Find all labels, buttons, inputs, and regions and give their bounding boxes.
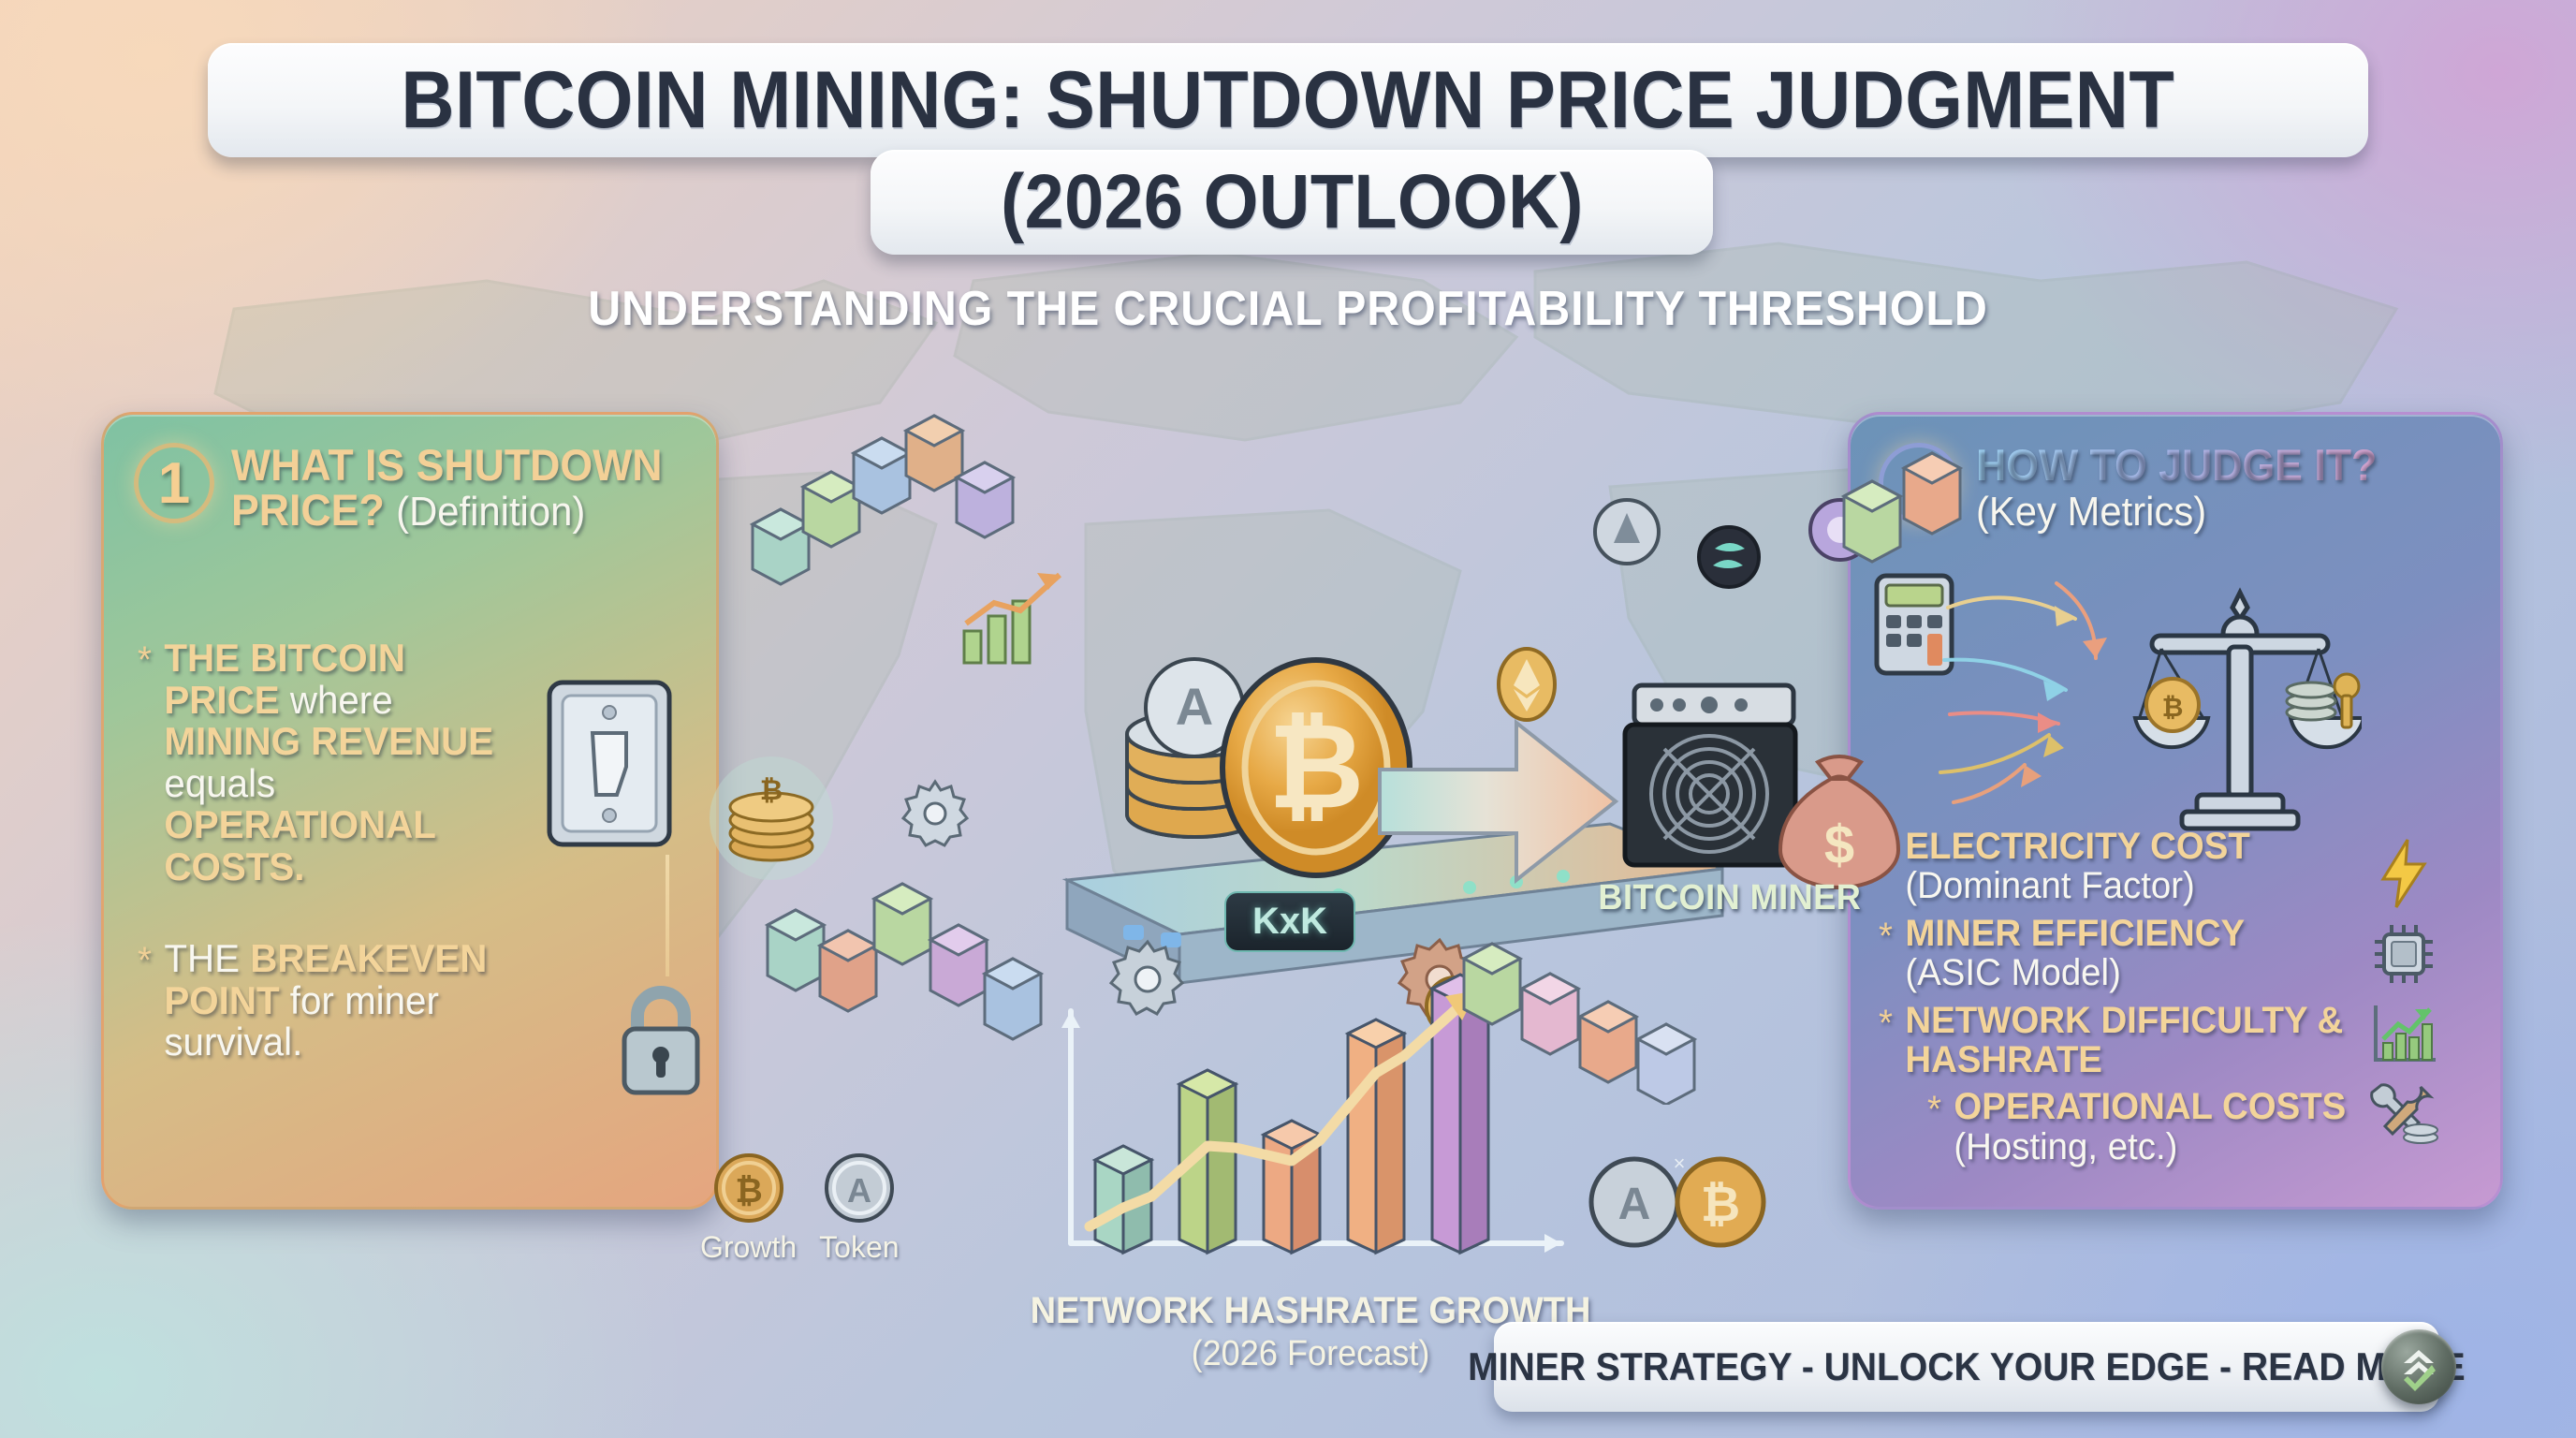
bullet-segment: OPERATIONAL COSTS. — [164, 802, 435, 888]
bullet-star-icon: * — [1927, 1087, 1941, 1167]
metric-note: (Dominant Factor) — [1905, 865, 2194, 906]
altcoin-badge-icon — [1696, 524, 1762, 590]
panel-definition: 1 WHAT IS SHUTDOWN PRICE? (Definition) *… — [101, 412, 719, 1210]
coin-legend: ₿ Growth A Token — [700, 1152, 900, 1265]
coin-symbol: ₿ — [735, 1171, 762, 1210]
metric-title: MINER EFFICIENCY — [1905, 913, 2245, 954]
dollar-symbol: $ — [1824, 814, 1854, 875]
lightning-bolt-icon — [2378, 838, 2430, 909]
hashrate-caption-sub: (2026 Forecast) — [1192, 1334, 1430, 1373]
bullet-star-icon: * — [138, 638, 152, 888]
token-symbol: A — [1176, 677, 1213, 736]
metric-note: (Hosting, etc.) — [1954, 1126, 2177, 1167]
panel-right-heading-main: HOW TO JUDGE IT? — [1976, 440, 2377, 490]
light-switch-icon[interactable] — [544, 677, 675, 850]
step-number-badge-1: 1 — [134, 443, 214, 523]
svg-text:A: A — [1618, 1180, 1651, 1229]
ethereum-coin-icon — [1494, 644, 1559, 725]
svg-text:×: × — [1674, 1152, 1686, 1175]
page-subtitle: UNDERSTANDING THE CRUCIAL PROFITABILITY … — [90, 281, 2485, 337]
page-title-line1: BITCOIN MINING: SHUTDOWN PRICE JUDGMENT — [402, 54, 2175, 147]
wrench-tools-icon — [2366, 1081, 2441, 1149]
panel-left-header: 1 WHAT IS SHUTDOWN PRICE? (Definition) — [134, 443, 716, 534]
connector-line — [666, 855, 669, 976]
bar — [1348, 1020, 1404, 1253]
title-plaque-line2: (2026 OUTLOOK) — [871, 150, 1713, 255]
bullet-star-icon: * — [1879, 914, 1893, 993]
cpu-chip-icon-wrap — [2359, 914, 2449, 994]
growth-chart-icon-wrap — [2359, 994, 2449, 1075]
cta-banner[interactable]: MINER STRATEGY - UNLOCK YOUR EDGE - READ… — [1494, 1322, 2439, 1412]
panel-left-bullet-list: * THE BITCOIN PRICE where MINING REVENUE… — [138, 638, 540, 1088]
balance-scale-icon: ₿ — [2118, 581, 2362, 834]
bullet-segment: THE — [164, 936, 250, 980]
flow-arrows-icon — [1935, 574, 2131, 808]
metric-title: ELECTRICITY COST — [1905, 826, 2249, 867]
chevron-check-badge-icon[interactable] — [2381, 1329, 2456, 1404]
block-cubes-icon — [1455, 899, 1735, 1105]
padlock-icon[interactable] — [609, 976, 712, 1103]
panel-left-heading: WHAT IS SHUTDOWN PRICE? (Definition) — [231, 443, 692, 534]
token-coin-icon: A — [823, 1152, 896, 1225]
gear-icon — [899, 777, 972, 850]
bullet-segment: where — [290, 678, 393, 722]
bullet-segment: MINING REVENUE — [164, 719, 493, 763]
legend-item-growth: ₿ Growth — [700, 1152, 797, 1265]
bitcoin-coin-icon: ₿ — [712, 1152, 785, 1225]
lightning-bolt-icon-wrap — [2359, 833, 2449, 914]
list-item: * OPERATIONAL COSTS(Hosting, etc.) — [1927, 1087, 2365, 1167]
panel-left-heading-paren: (Definition) — [396, 489, 585, 535]
panel-right-bullet-list: * ELECTRICITY COST(Dominant Factor) * MI… — [1879, 827, 2384, 1174]
list-item: * ELECTRICITY COST(Dominant Factor) — [1879, 827, 2364, 906]
legend-item-token: A Token — [819, 1152, 899, 1265]
cpu-chip-icon — [2369, 919, 2438, 989]
coin-pair-icon: A ₿ × — [1582, 1150, 1778, 1253]
wrench-tools-icon-wrap — [2359, 1075, 2449, 1155]
bitcoin-symbol: ₿ — [1268, 700, 1365, 832]
panel-right-heading: HOW TO JUDGE IT? (Key Metrics) — [1976, 443, 2377, 534]
list-item: * THE BREAKEVEN POINT for miner survival… — [138, 938, 524, 1064]
metric-title: OPERATIONAL COSTS — [1954, 1086, 2346, 1127]
coin-symbol: A — [847, 1171, 871, 1210]
right-arrow-icon — [1376, 708, 1619, 895]
legend-label-token: Token — [819, 1230, 899, 1265]
block-cubes-icon — [758, 843, 1058, 1058]
altcoin-badge-icon — [1591, 496, 1662, 567]
growth-chart-icon — [2368, 1002, 2439, 1067]
list-item: * MINER EFFICIENCY(ASIC Model) — [1879, 914, 2364, 993]
svg-text:₿: ₿ — [760, 775, 783, 806]
infographic-canvas: BITCOIN MINING: SHUTDOWN PRICE JUDGMENT … — [0, 0, 2576, 1438]
cta-text: MINER STRATEGY - UNLOCK YOUR EDGE - READ… — [1468, 1344, 2466, 1389]
kxk-label: KxK — [1224, 891, 1355, 952]
bullet-segment: equals — [164, 761, 275, 805]
list-item: * THE BITCOIN PRICE where MINING REVENUE… — [138, 638, 524, 888]
list-item: * NETWORK DIFFICULTY & HASHRATE — [1879, 1001, 2364, 1080]
block-cubes-icon — [1835, 431, 2022, 599]
bullet-star-icon: * — [1879, 1001, 1893, 1080]
bullet-star-icon: * — [138, 938, 152, 1064]
metric-title: NETWORK DIFFICULTY & HASHRATE — [1905, 1000, 2343, 1080]
legend-label-growth: Growth — [700, 1230, 797, 1265]
block-cubes-icon — [739, 412, 1048, 693]
svg-text:₿: ₿ — [1701, 1178, 1740, 1232]
metric-note: (ASIC Model) — [1905, 952, 2120, 993]
page-title-line2: (2026 OUTLOOK) — [1001, 158, 1584, 246]
svg-text:₿: ₿ — [2162, 693, 2184, 722]
metric-icon-column — [2359, 833, 2449, 1155]
money-bag-icon: $ — [1769, 740, 1910, 889]
title-plaque-line1: BITCOIN MINING: SHUTDOWN PRICE JUDGMENT — [208, 43, 2368, 157]
